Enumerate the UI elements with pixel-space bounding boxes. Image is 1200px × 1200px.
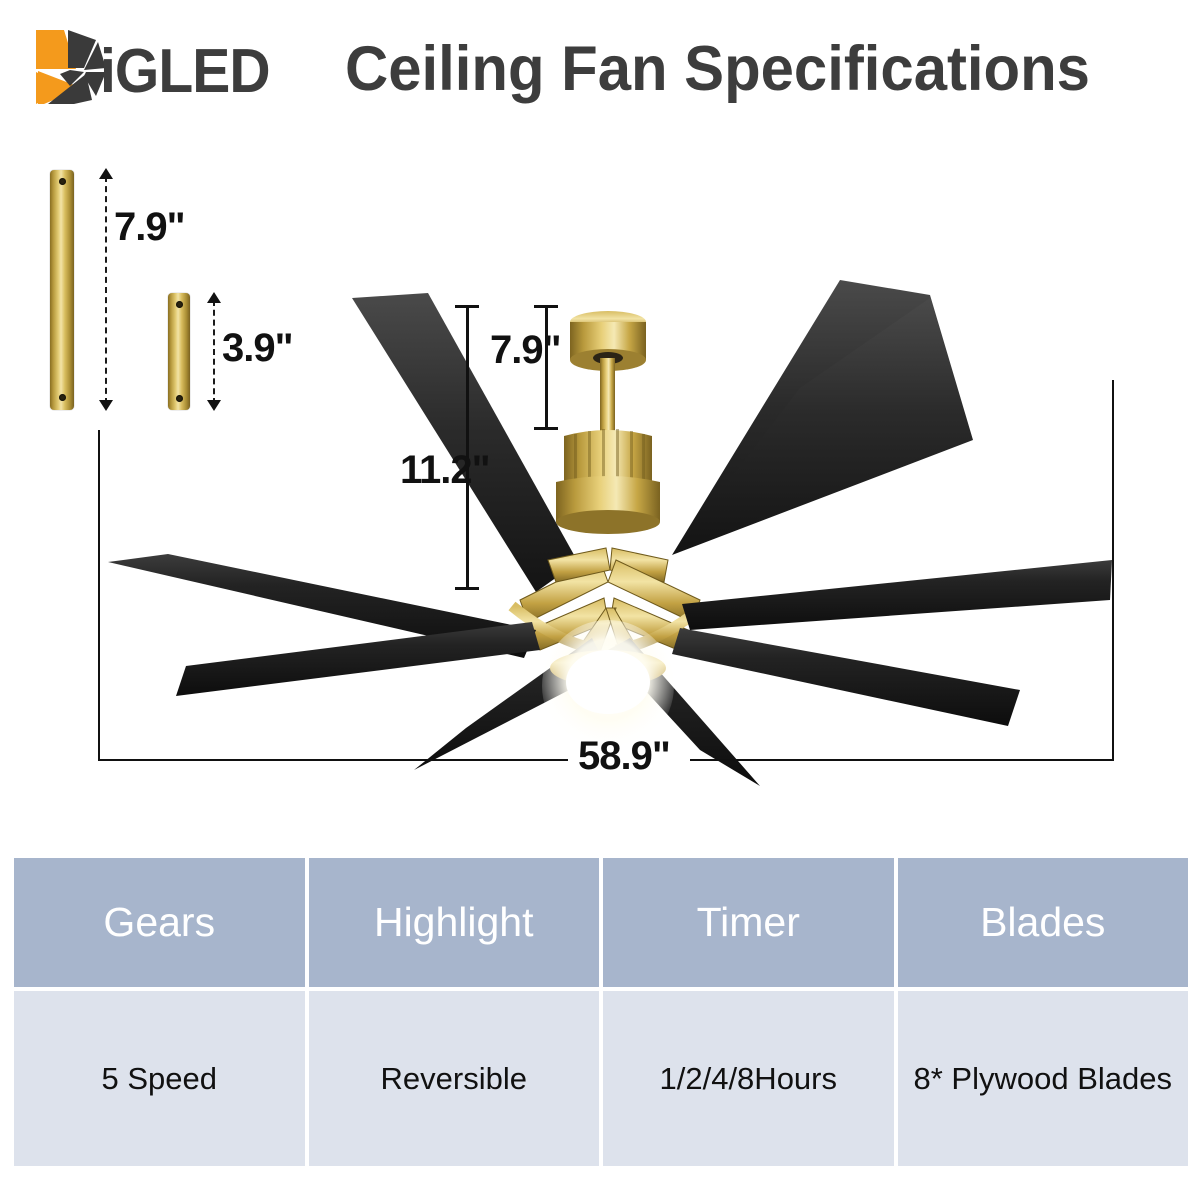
downrod-drop-cap-bottom: [534, 427, 558, 430]
downrod-graphic: [600, 358, 615, 436]
downrod-drop-dimension-label: 7.9": [490, 328, 561, 373]
right-extension-line: [1112, 380, 1114, 760]
table-cell-timer: 1/2/4/8Hours: [603, 991, 894, 1166]
led-light-lens: [566, 650, 650, 714]
blade-span-dimension-line-right: [690, 759, 1114, 761]
motor-band: [556, 510, 660, 534]
fan-blade-8: [672, 628, 1020, 726]
page-title: Ceiling Fan Specifications: [345, 33, 1090, 105]
table-cell-highlight: Reversible: [309, 991, 600, 1166]
table-cell-blades: 8* Plywood Blades: [898, 991, 1189, 1166]
table-row: 5 Speed Reversible 1/2/4/8Hours 8* Plywo…: [14, 991, 1188, 1166]
blade-span-dimension-line-left: [98, 759, 568, 761]
fan-body-height-cap-bottom: [455, 587, 479, 590]
left-extension-line: [98, 430, 100, 760]
ceiling-fan-illustration: [0, 130, 1200, 830]
shutter-d-logo-icon: [34, 28, 108, 106]
blade-span-dimension-label: 58.9": [578, 734, 670, 779]
fan-blade-5: [176, 622, 540, 696]
specifications-table: Gears Highlight Timer Blades 5 Speed Rev…: [14, 858, 1188, 1166]
page-header: iGLED Ceiling Fan Specifications: [0, 0, 1200, 130]
table-header-blades: Blades: [898, 858, 1189, 987]
ceiling-fan-dimension-diagram: 7.9" 3.9": [0, 130, 1200, 830]
table-header-timer: Timer: [603, 858, 894, 987]
fan-blade-9: [682, 560, 1112, 630]
table-header-highlight: Highlight: [309, 858, 600, 987]
table-cell-gears: 5 Speed: [14, 991, 305, 1166]
table-header-gears: Gears: [14, 858, 305, 987]
brand-logo-text: iGLED: [100, 36, 270, 107]
downrod-drop-cap-top: [534, 305, 558, 308]
fan-body-height-dimension-label: 11.2": [400, 448, 490, 493]
fan-body-height-cap-top: [455, 305, 479, 308]
table-header-row: Gears Highlight Timer Blades: [14, 858, 1188, 987]
